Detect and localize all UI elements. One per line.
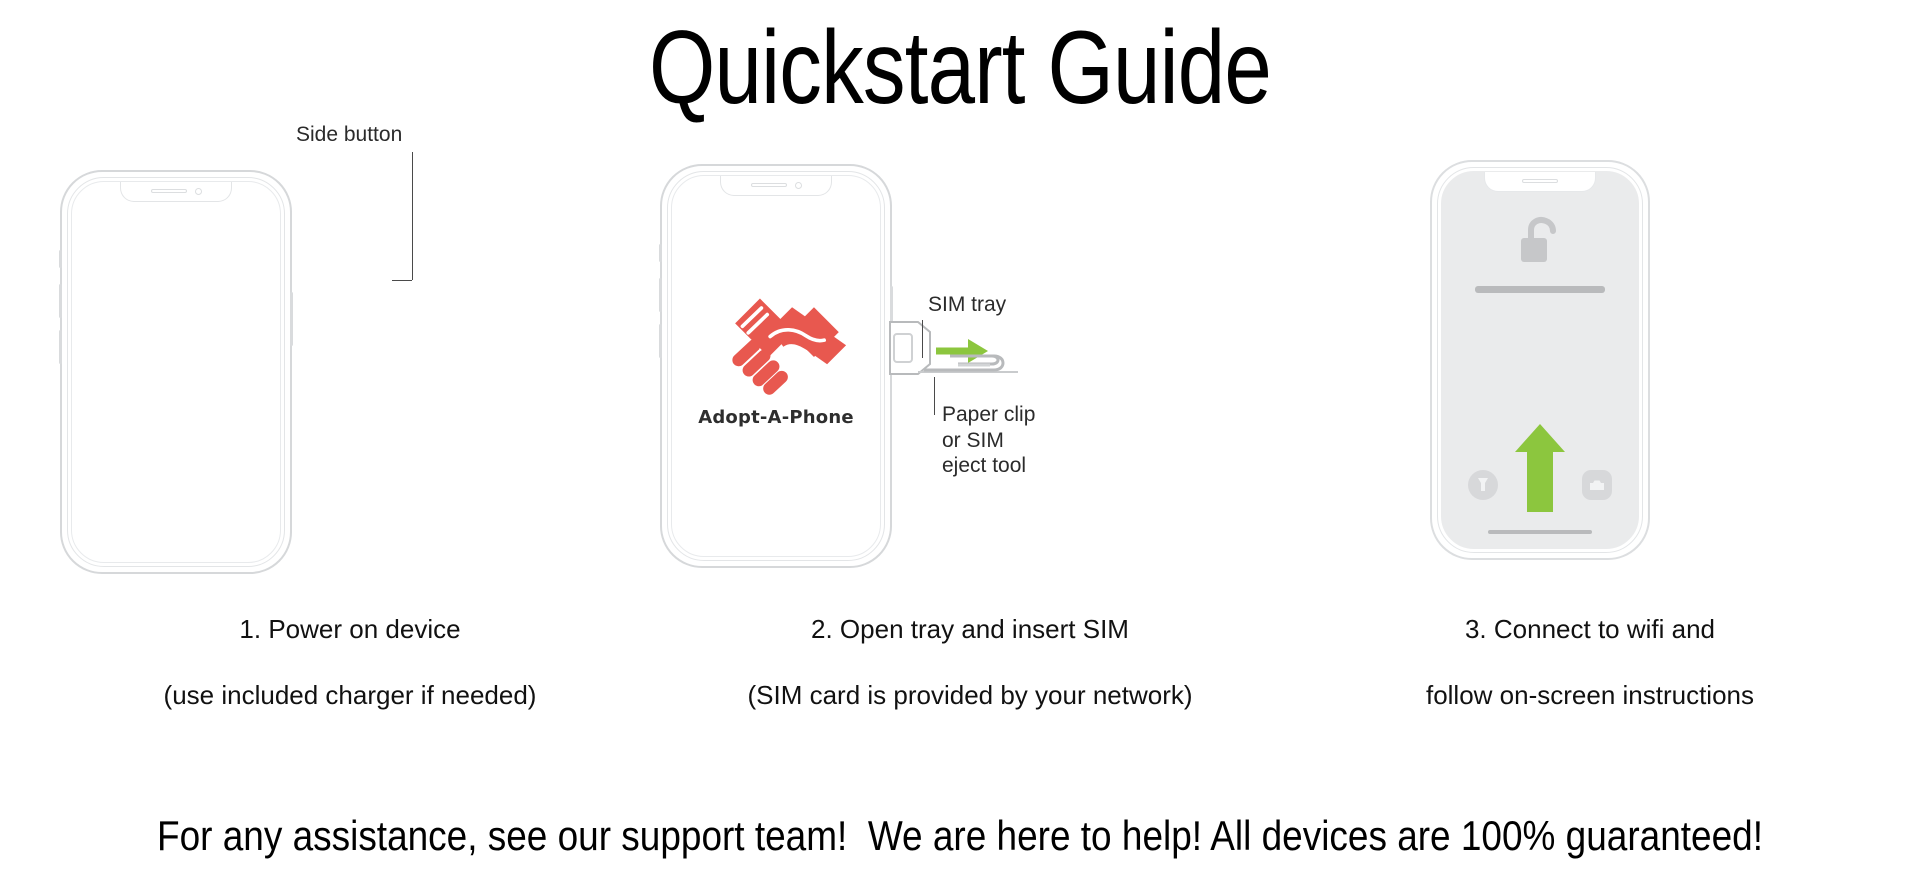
step-3: 3. Connect to wifi and follow on-screen … [1280,122,1900,712]
leader-line-side-button [412,152,413,280]
steps-row: Side button 1. Power on device [0,122,1920,712]
front-camera-icon [195,188,202,195]
brand-logo-text: Adopt-A-Phone [698,407,854,428]
mute-switch-button[interactable] [659,244,662,262]
volume-down-button[interactable] [59,330,62,364]
up-arrow-icon [1513,422,1567,514]
step-3-caption-line1: 3. Connect to wifi and [1465,614,1715,644]
earpiece-speaker-icon [751,183,787,187]
step-2: Adopt-A-Phone [660,122,1280,712]
paper-clip-icon [924,356,1003,370]
earpiece-speaker-icon [151,189,187,193]
front-camera-icon [795,182,802,189]
footer-support-message: For any assistance, see our support team… [115,812,1805,860]
phone-illustration-2: Adopt-A-Phone [660,164,892,568]
lock-screen-top [1442,216,1638,293]
unlocked-padlock-icon [1517,216,1563,268]
passcode-bar [1475,286,1605,293]
earpiece-speaker-icon [1522,179,1558,183]
mute-switch-button[interactable] [59,250,62,268]
home-indicator-bar [1488,530,1592,534]
notch [120,181,232,202]
phone-illustration-3 [1430,160,1650,560]
phone-illustration-1 [60,170,292,574]
callout-eject-tool: Paper clip or SIM eject tool [942,402,1035,479]
handshake-icon [703,294,849,398]
sim-tray-assembly [888,308,1088,398]
step-3-caption: 3. Connect to wifi and follow on-screen … [1426,580,1754,712]
step-1-caption: 1. Power on device (use included charger… [164,580,537,712]
volume-down-button[interactable] [659,324,662,358]
sim-tray-and-eject-tool-icon [888,308,1088,398]
callout-side-button: Side button [296,122,402,148]
leader-line-eject-tool [934,377,935,415]
brand-logo: Adopt-A-Phone [672,294,880,428]
page-title: Quickstart Guide [173,0,1747,120]
callout-sim-tray: SIM tray [928,292,1006,318]
leader-line-side-button-foot [392,280,412,281]
side-power-button[interactable] [290,292,293,346]
leader-line-sim-tray [922,320,923,358]
step-2-caption-line1: 2. Open tray and insert SIM [811,614,1129,644]
step-2-caption: 2. Open tray and insert SIM (SIM card is… [747,580,1192,712]
step-3-caption-line2: follow on-screen instructions [1426,680,1754,710]
step-2-illustration: Adopt-A-Phone [660,122,1280,572]
volume-up-button[interactable] [659,278,662,312]
step-1-caption-line1: 1. Power on device [239,614,460,644]
swipe-up-indicator [1442,422,1638,514]
step-3-illustration [1280,122,1900,572]
phone-screen-blank [71,181,281,563]
volume-up-button[interactable] [59,284,62,318]
phone-lock-screen [1441,171,1639,549]
phone-screen-logo: Adopt-A-Phone [671,175,881,557]
insert-direction-arrow-icon [936,339,988,363]
notch [1484,171,1596,192]
step-2-caption-line2: (SIM card is provided by your network) [747,680,1192,710]
step-1-caption-line2: (use included charger if needed) [164,680,537,710]
step-1-illustration: Side button [40,122,660,572]
step-1: Side button 1. Power on device [40,122,660,712]
notch [720,175,832,196]
